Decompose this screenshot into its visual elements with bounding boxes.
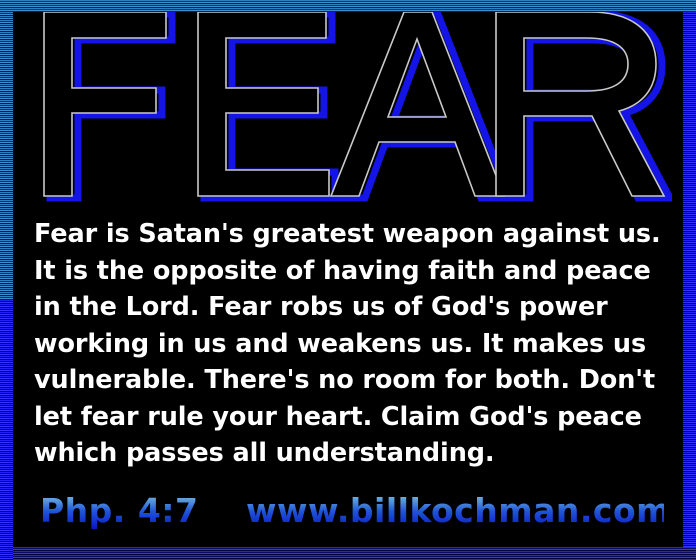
- headline-fear: [24, 6, 672, 202]
- footer-artwork: Php. 4:7 www.billkochman.com: [40, 489, 664, 533]
- headline-fear-artwork: [24, 6, 672, 202]
- footer-row: Php. 4:7 www.billkochman.com: [40, 489, 664, 533]
- headline-letter-a: [331, 12, 504, 196]
- border-stripe-bottom: [0, 547, 696, 560]
- border-stripe-left: [0, 0, 13, 560]
- border-stripe-left-lower: [0, 300, 13, 560]
- website-url[interactable]: www.billkochman.com: [246, 491, 664, 530]
- body-paragraph: Fear is Satan's greatest weapon against …: [34, 216, 668, 472]
- poster-canvas: Fear is Satan's greatest weapon against …: [0, 0, 696, 560]
- scripture-reference: Php. 4:7: [40, 491, 198, 530]
- border-stripe-right: [683, 0, 696, 560]
